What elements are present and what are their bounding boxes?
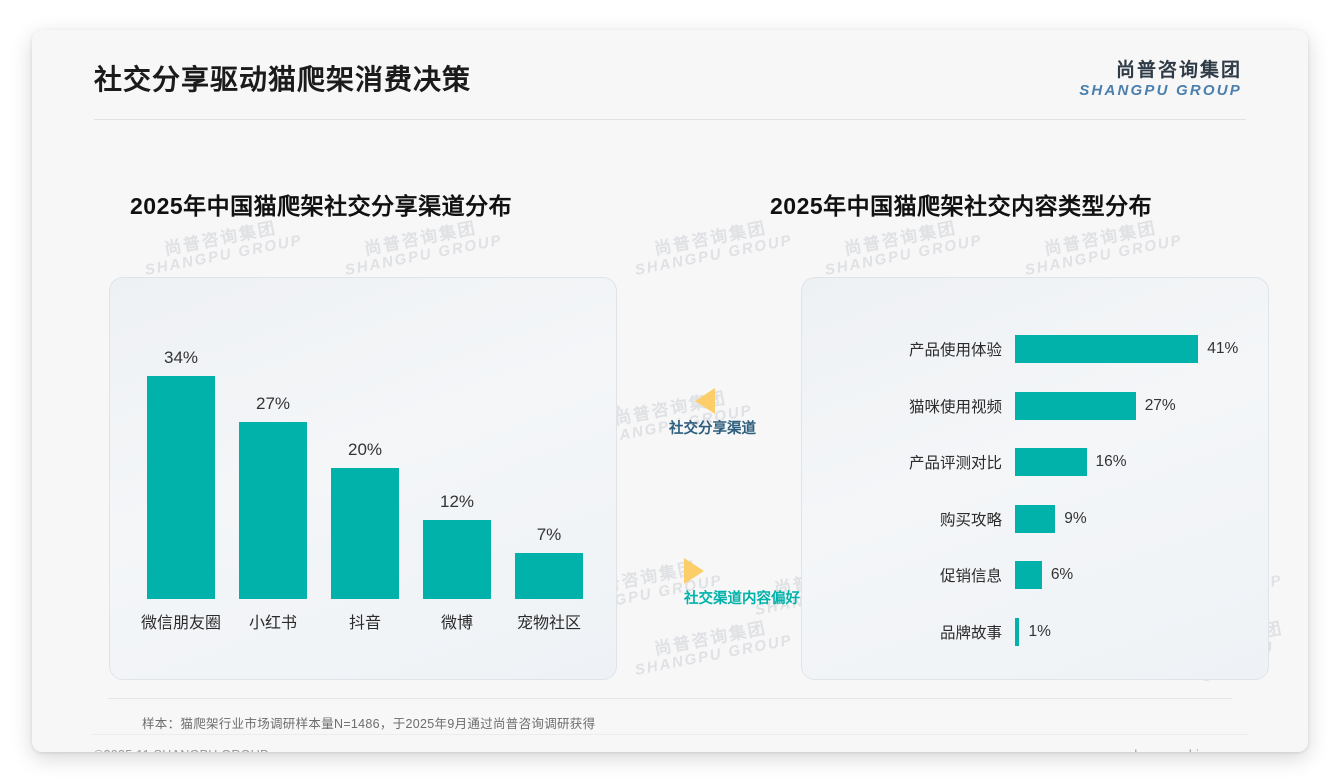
bar-value-label: 41% [1198,340,1238,358]
bar-category-label: 产品使用体验 [802,338,1015,360]
vertical-bar-chart: 34%微信朋友圈27%小红书20%抖音12%微博7%宠物社区 [110,278,616,679]
bar-category-label: 宠物社区 [517,609,581,633]
bar-row: 产品使用体验41% [802,330,1268,368]
bar-category-label: 微信朋友圈 [141,609,221,633]
bar-row: 猫咪使用视频27% [802,387,1268,425]
bar[interactable] [1015,505,1055,533]
bar-category-label: 购买攻略 [802,508,1015,530]
bar-value-label: 16% [1087,453,1127,471]
watermark-text: 尚普咨询集团SHANGPU GROUP [140,215,304,279]
bar[interactable] [423,520,491,599]
slide-header: 社交分享驱动猫爬架消费决策 尚普咨询集团 SHANGPU GROUP [32,30,1308,120]
bar-row: 购买攻略9% [802,500,1268,538]
bar-value-label: 34% [135,348,227,368]
bar-value-label: 7% [503,525,595,545]
bar-row: 品牌故事1% [802,613,1268,651]
bar-value-label: 9% [1055,510,1086,528]
bar-group: 7%宠物社区 [503,278,595,679]
bar[interactable] [147,376,215,599]
bar[interactable] [1015,335,1198,363]
sample-note: 样本：猫爬架行业市场调研样本量N=1486，于2025年9月通过尚普咨询调研获得 [142,713,595,732]
triangle-left-icon [695,388,715,414]
website-link[interactable]: www.shangpu-china.com [1097,748,1242,752]
bar-row: 促销信息6% [802,556,1268,594]
bar-category-label: 抖音 [349,609,381,633]
right-chart-title: 2025年中国猫爬架社交内容类型分布 [770,187,1152,221]
connector-top: 社交分享渠道 [669,388,756,438]
bar-value-label: 12% [411,492,503,512]
header-divider [94,119,1246,120]
connector-bottom: 社交渠道内容偏好 [684,558,800,608]
bar-value-label: 27% [227,394,319,414]
bar-value-label: 20% [319,440,411,460]
logo-chinese-text: 尚普咨询集团 [1079,60,1242,82]
bar-category-label: 微博 [441,609,473,633]
watermark-text: 尚普咨询集团SHANGPU GROUP [820,215,984,279]
brand-logo: 尚普咨询集团 SHANGPU GROUP [1079,60,1242,99]
bar-value-label: 1% [1019,623,1050,641]
connector-bottom-label: 社交渠道内容偏好 [684,587,800,608]
bar[interactable] [1015,392,1136,420]
bar[interactable] [1015,561,1042,589]
watermark-text: 尚普咨询集团SHANGPU GROUP [630,615,794,679]
watermark-text: 尚普咨询集团SHANGPU GROUP [630,215,794,279]
watermark-text: 尚普咨询集团SHANGPU GROUP [1020,215,1184,279]
left-chart-title: 2025年中国猫爬架社交分享渠道分布 [130,187,512,221]
bar[interactable] [239,422,307,599]
bar-category-label: 产品评测对比 [802,451,1015,473]
bar[interactable] [1015,448,1087,476]
slide-canvas: 社交分享驱动猫爬架消费决策 尚普咨询集团 SHANGPU GROUP 2025年… [32,30,1308,752]
triangle-right-icon [684,558,704,584]
bar-group: 27%小红书 [227,278,319,679]
page-title: 社交分享驱动猫爬架消费决策 [94,58,471,98]
note-divider [108,698,1232,699]
copyright-text: ©2025.11 SHANGPU GROUP [94,748,269,752]
watermark-text: 尚普咨询集团SHANGPU GROUP [340,215,504,279]
left-chart-panel: 34%微信朋友圈27%小红书20%抖音12%微博7%宠物社区 [109,277,617,680]
bar-category-label: 小红书 [249,609,297,633]
bar-category-label: 促销信息 [802,564,1015,586]
logo-english-text: SHANGPU GROUP [1079,82,1242,99]
bar[interactable] [515,553,583,599]
horizontal-bar-chart: 产品使用体验41%猫咪使用视频27%产品评测对比16%购买攻略9%促销信息6%品… [802,278,1268,679]
bar-group: 34%微信朋友圈 [135,278,227,679]
bar-category-label: 猫咪使用视频 [802,395,1015,417]
connector-top-label: 社交分享渠道 [669,417,756,438]
footer-divider [92,734,1248,735]
bar-value-label: 6% [1042,566,1073,584]
bar-group: 12%微博 [411,278,503,679]
bar[interactable] [331,468,399,599]
bar-group: 20%抖音 [319,278,411,679]
bar-category-label: 品牌故事 [802,621,1015,643]
right-chart-panel: 产品使用体验41%猫咪使用视频27%产品评测对比16%购买攻略9%促销信息6%品… [801,277,1269,680]
bar-row: 产品评测对比16% [802,443,1268,481]
bar-value-label: 27% [1136,397,1176,415]
